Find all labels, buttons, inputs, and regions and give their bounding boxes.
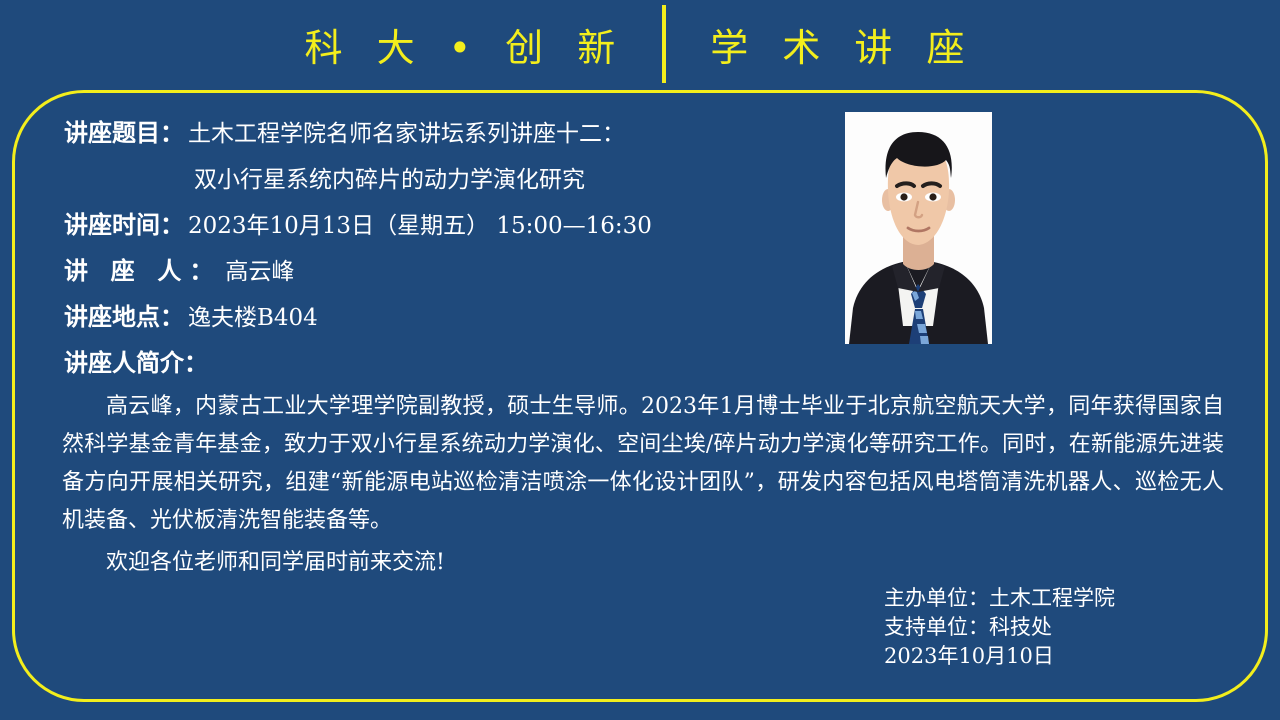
poster-footer: 主办单位：土木工程学院 支持单位：科技处 2023年10月10日	[884, 584, 1115, 671]
topic-value-line1: 土木工程学院名师名家讲坛系列讲座十二：	[188, 114, 625, 154]
footer-supporter: 支持单位：科技处	[884, 613, 1115, 642]
poster-content: 讲座题目： 土木工程学院名师名家讲坛系列讲座十二： 双小行星系统内碎片的动力学演…	[0, 92, 1280, 720]
footer-organizer: 主办单位：土木工程学院	[884, 584, 1115, 613]
footer-date: 2023年10月10日	[884, 642, 1115, 671]
portrait-illustration	[845, 112, 992, 344]
speaker-value: 高云峰	[225, 252, 294, 292]
header-left-title: 科 大 • 创 新	[305, 17, 663, 72]
venue-label: 讲座地点：	[64, 298, 184, 338]
venue-row: 讲座地点： 逸夫楼B404	[64, 298, 844, 338]
venue-value: 逸夫楼B404	[188, 298, 318, 338]
header-right-title: 学 术 讲 座	[666, 17, 975, 72]
time-value: 2023年10月13日（星期五） 15:00—16:30	[188, 206, 652, 246]
topic-value-line2: 双小行星系统内碎片的动力学演化研究	[194, 160, 844, 200]
lecture-info-block: 讲座题目： 土木工程学院名师名家讲坛系列讲座十二： 双小行星系统内碎片的动力学演…	[64, 114, 844, 384]
speaker-label: 讲 座 人：	[64, 252, 221, 292]
time-label: 讲座时间：	[64, 206, 184, 246]
speaker-biography: 高云峰，内蒙古工业大学理学院副教授，硕士生导师。2023年1月博士毕业于北京航空…	[62, 388, 1224, 584]
speaker-intro-label: 讲座人简介：	[64, 344, 844, 384]
speaker-portrait-photo	[845, 112, 992, 344]
biography-paragraph: 高云峰，内蒙古工业大学理学院副教授，硕士生导师。2023年1月博士毕业于北京航空…	[62, 388, 1224, 540]
topic-row: 讲座题目： 土木工程学院名师名家讲坛系列讲座十二：	[64, 114, 844, 154]
time-row: 讲座时间： 2023年10月13日（星期五） 15:00—16:30	[64, 206, 844, 246]
speaker-row: 讲 座 人： 高云峰	[64, 252, 844, 292]
lecture-poster: 科 大 • 创 新 学 术 讲 座 讲座题目： 土木工程学院名师名家讲坛系列讲座…	[0, 0, 1280, 720]
welcome-line: 欢迎各位老师和同学届时前来交流!	[62, 544, 1224, 582]
topic-label: 讲座题目：	[64, 114, 184, 154]
poster-header: 科 大 • 创 新 学 术 讲 座	[0, 0, 1280, 92]
